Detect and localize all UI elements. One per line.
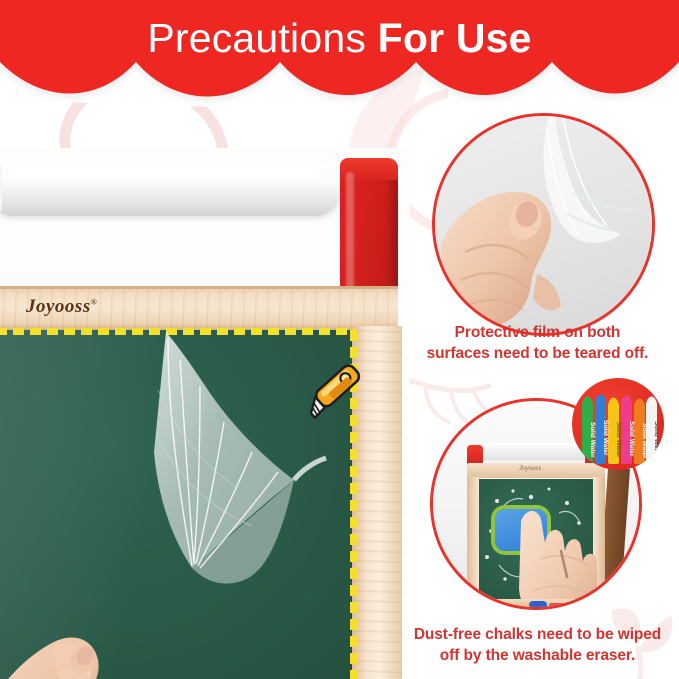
brand-registered-mark: ® xyxy=(91,298,97,307)
svg-text:Solid Water: Solid Water xyxy=(641,423,648,459)
solid-water-chalks-badge: Solid Water Solid Water Solid Water Soli… xyxy=(572,378,664,470)
svg-text:Solid Water: Solid Water xyxy=(602,420,609,456)
box-cutter-icon xyxy=(300,353,378,431)
peeling-protective-film xyxy=(88,330,328,630)
paper-roll-end xyxy=(0,160,2,216)
step-1-caption: Protective film on both surfaces need to… xyxy=(396,322,679,364)
brand-logo: Joyooss® xyxy=(26,296,97,318)
step-1-photo-circle xyxy=(432,113,655,336)
tray-chalk-stick xyxy=(549,603,571,608)
easel-frame-left xyxy=(467,477,479,603)
svg-text:Solid Water: Solid Water xyxy=(628,421,635,457)
hand-wiping-board xyxy=(511,499,615,610)
step-2-caption: Dust-free chalks need to be wiped off by… xyxy=(396,624,679,666)
svg-text:Solid Water: Solid Water xyxy=(653,421,658,457)
hand-peeling-film xyxy=(0,608,160,679)
page-title: Precautions For Use xyxy=(0,14,679,62)
hand-holding-film xyxy=(441,178,609,328)
brand-logo-text: Joyooss xyxy=(26,296,91,317)
easel-foot xyxy=(529,607,543,610)
chalk-sticks: Solid Water Solid Water Solid Water Soli… xyxy=(580,388,658,468)
svg-text:Solid Water: Solid Water xyxy=(615,422,622,458)
infographic-canvas: Precautions For Use Joyooss® xyxy=(0,0,679,679)
tray-sponge-eraser xyxy=(529,601,547,609)
step-2-caption-line-2: off by the washable eraser. xyxy=(396,645,679,666)
step-2-caption-line-1: Dust-free chalks need to be wiped xyxy=(396,624,679,645)
easel-brand-mark: Joyooss xyxy=(519,464,541,472)
main-product-photo: Joyooss® xyxy=(0,148,410,679)
svg-text:Solid Water: Solid Water xyxy=(589,422,596,458)
page-title-light: Precautions xyxy=(147,15,377,61)
wood-rail-edge-line xyxy=(0,286,398,289)
paper-roll-highlight xyxy=(10,168,320,178)
step-1-caption-line-1: Protective film on both xyxy=(396,322,679,343)
step-1-caption-line-2: surfaces need to be teared off. xyxy=(396,343,679,364)
page-title-bold: For Use xyxy=(378,15,532,61)
